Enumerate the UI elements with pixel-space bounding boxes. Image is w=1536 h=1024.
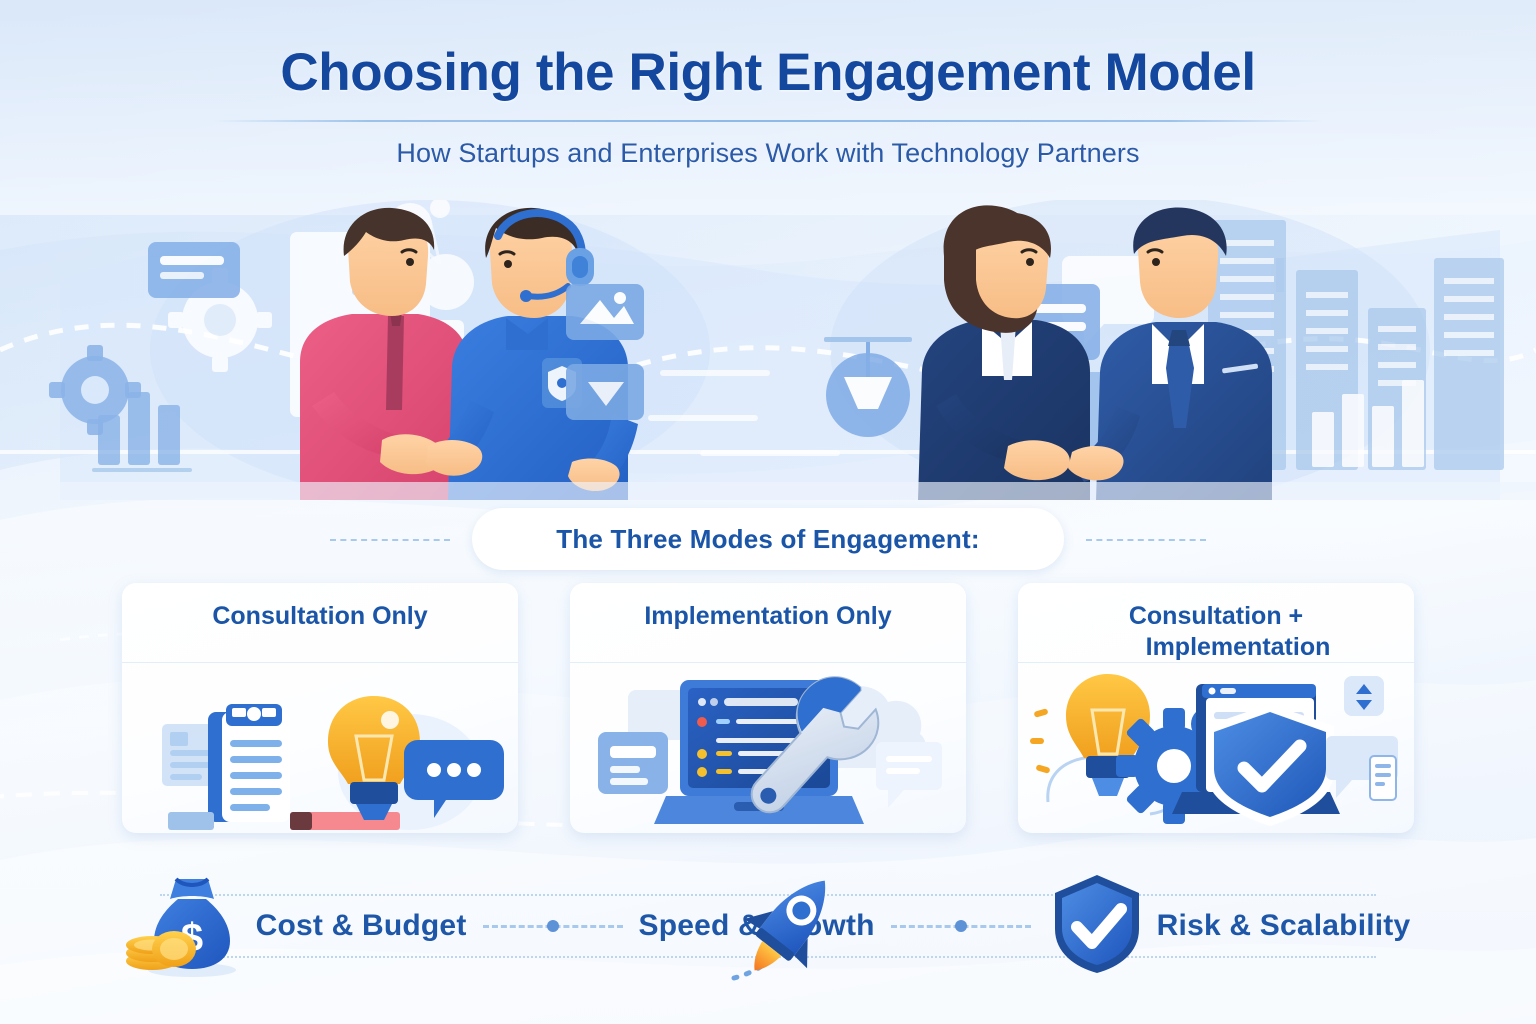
metric-connector-2 (891, 920, 1031, 932)
header: Choosing the Right Engagement Model How … (0, 44, 1536, 169)
document-icon (598, 732, 668, 794)
page-title: Choosing the Right Engagement Model (0, 44, 1536, 101)
title-divider (213, 120, 1323, 122)
card-title: Implementation Only (570, 583, 966, 657)
connector-dot (547, 920, 559, 932)
shield-check-icon (1047, 871, 1147, 982)
metric-speed-growth[interactable]: Speed & Growth (639, 909, 875, 943)
card-artwork (122, 662, 518, 833)
metric-label: Risk & Scalability (1157, 909, 1411, 943)
chat-icon (876, 742, 942, 808)
metric-cost-budget[interactable]: $ Cost & Budget (126, 869, 467, 984)
banner-connector-right (1086, 539, 1206, 541)
connector-dot (955, 920, 967, 932)
metric-risk-scalability[interactable]: Risk & Scalability (1047, 871, 1411, 982)
key-factors-row: $ Cost & Budget (0, 862, 1536, 990)
infographic-canvas: Choosing the Right Engagement Model How … (0, 0, 1536, 1024)
engagement-mode-cards: Consultation Only (122, 583, 1414, 833)
stepper-icon (1344, 676, 1384, 716)
metric-label: Speed & Growth (639, 909, 875, 943)
section-banner-label: The Three Modes of Engagement: (556, 524, 980, 555)
card-artwork (570, 662, 966, 833)
card-consultation-plus-implementation[interactable]: Consultation + Implementation (1018, 583, 1414, 833)
card-consultation-only[interactable]: Consultation Only (122, 583, 518, 833)
money-bag-icon: $ (126, 869, 246, 984)
metric-connector-1 (483, 920, 623, 932)
clipboard-icon (208, 704, 290, 822)
card-artwork (1018, 662, 1414, 833)
hero-illustration (0, 200, 1536, 500)
page-subtitle: How Startups and Enterprises Work with T… (0, 138, 1536, 169)
note-icon (1370, 756, 1396, 800)
card-title-line1: Consultation + (1129, 602, 1303, 630)
card-implementation-only[interactable]: Implementation Only (570, 583, 966, 833)
card-title: Consultation + Implementation (1018, 583, 1414, 662)
card-title: Consultation Only (122, 583, 518, 657)
card-title-line2: Implementation (1038, 632, 1394, 663)
section-banner: The Three Modes of Engagement: (472, 508, 1064, 570)
metric-label: Cost & Budget (256, 909, 467, 943)
banner-connector-left (330, 539, 450, 541)
